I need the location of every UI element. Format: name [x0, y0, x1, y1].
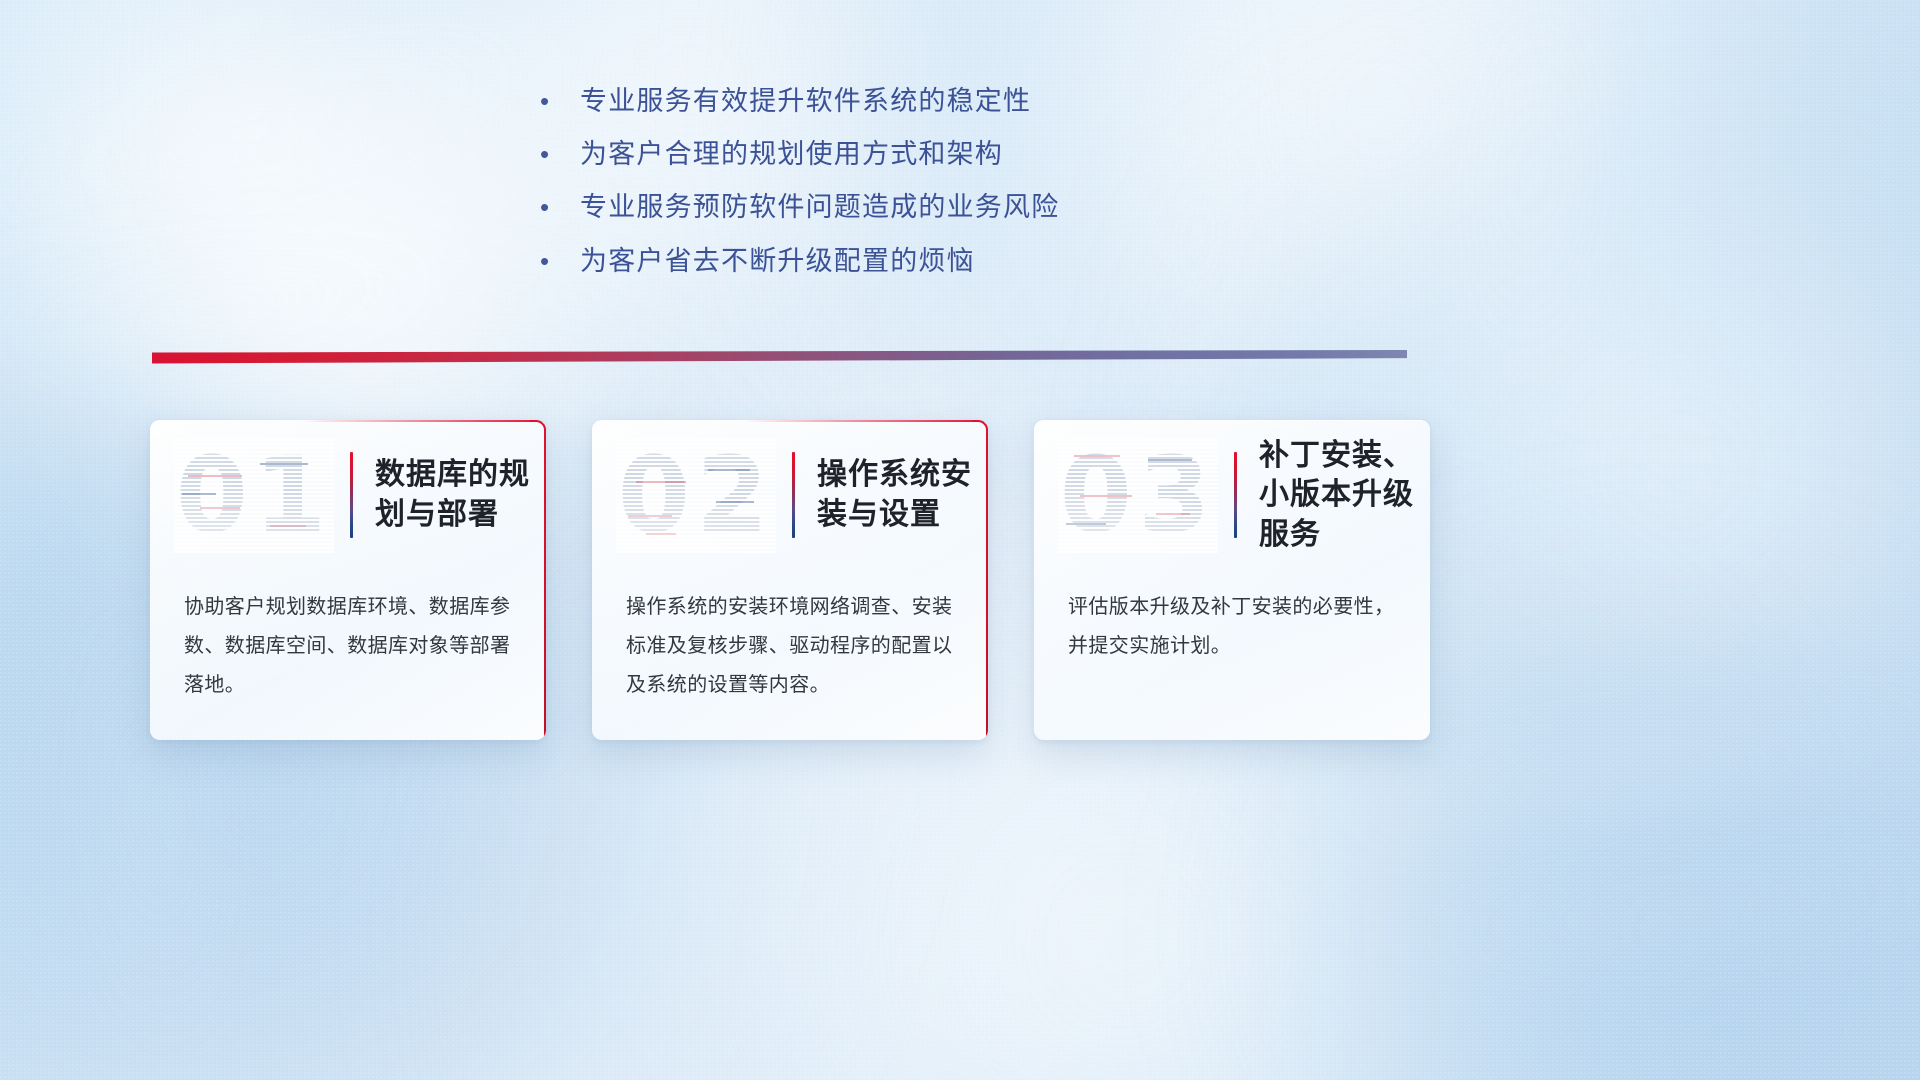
card-title: 数据库的规划与部署 — [375, 455, 546, 534]
card-body-text: 操作系统的安装环境网络调查、安装标准及复核步骤、驱动程序的配置以及系统的设置等内… — [592, 570, 988, 705]
bullet-text: 为客户合理的规划使用方式和架构 — [580, 139, 1440, 170]
glitch-slash-icon — [1074, 455, 1120, 457]
bullet-dot-icon: • — [540, 192, 580, 223]
card-accent-bar — [1234, 452, 1237, 538]
card-accent-bar — [350, 452, 353, 538]
list-item: • 专业服务预防软件问题造成的业务风险 — [540, 192, 1440, 223]
card-number-watermark: 01 — [174, 437, 334, 553]
card-number-text: 01 — [174, 437, 334, 553]
bullet-text: 专业服务有效提升软件系统的稳定性 — [580, 86, 1440, 117]
card-body-text: 评估版本升级及补丁安装的必要性，并提交实施计划。 — [1034, 570, 1430, 666]
service-card-list: 01 数据库的规划与部署 协助客户规划数据库环境、数据库参数、数据库空间、数据库… — [150, 420, 1430, 740]
benefits-bullet-list: • 专业服务有效提升软件系统的稳定性 • 为客户合理的规划使用方式和架构 • 专… — [540, 86, 1440, 299]
glitch-slash-icon — [188, 475, 242, 477]
card-header: 01 数据库的规划与部署 — [150, 420, 546, 570]
divider-wedge — [152, 350, 1407, 364]
glitch-slash-icon — [716, 501, 754, 503]
bullet-dot-icon: • — [540, 246, 580, 277]
glitch-slash-icon — [646, 533, 676, 535]
glitch-slash-icon — [1080, 495, 1132, 497]
service-card[interactable]: 02 操作系统安装与设置 操作系统的安装环境网络调查、安装标准及复核步骤、驱动程… — [592, 420, 988, 740]
bullet-dot-icon: • — [540, 139, 580, 170]
glitch-slash-icon — [1156, 513, 1190, 515]
glitch-slash-icon — [270, 525, 306, 527]
list-item: • 为客户省去不断升级配置的烦恼 — [540, 246, 1440, 277]
card-number-watermark: 03 — [1058, 437, 1218, 553]
glitch-slash-icon — [1148, 459, 1192, 461]
glitch-slash-icon — [260, 463, 308, 465]
bullet-text: 专业服务预防软件问题造成的业务风险 — [580, 192, 1440, 223]
bullet-text: 为客户省去不断升级配置的烦恼 — [580, 246, 1440, 277]
service-card[interactable]: 01 数据库的规划与部署 协助客户规划数据库环境、数据库参数、数据库空间、数据库… — [150, 420, 546, 740]
list-item: • 专业服务有效提升软件系统的稳定性 — [540, 86, 1440, 117]
card-title: 操作系统安装与设置 — [817, 455, 988, 534]
card-header: 03 补丁安装、小版本升级服务 — [1034, 420, 1430, 570]
bullet-dot-icon: • — [540, 86, 580, 117]
glitch-slash-icon — [708, 469, 750, 471]
section-divider — [152, 350, 1407, 364]
glitch-slash-icon — [628, 515, 672, 517]
glitch-slash-icon — [636, 481, 686, 483]
glitch-slash-icon — [182, 493, 216, 495]
glitch-slash-icon — [1066, 523, 1106, 525]
glitch-slash-icon — [200, 507, 240, 509]
card-header: 02 操作系统安装与设置 — [592, 420, 988, 570]
card-number-watermark: 02 — [616, 437, 776, 553]
list-item: • 为客户合理的规划使用方式和架构 — [540, 139, 1440, 170]
card-number-text: 02 — [616, 437, 776, 553]
card-title: 补丁安装、小版本升级服务 — [1259, 436, 1430, 555]
service-card[interactable]: 03 补丁安装、小版本升级服务 评估版本升级及补丁安装的必要性，并提交实施计划。 — [1034, 420, 1430, 740]
card-accent-bar — [792, 452, 795, 538]
card-body-text: 协助客户规划数据库环境、数据库参数、数据库空间、数据库对象等部署落地。 — [150, 570, 546, 705]
